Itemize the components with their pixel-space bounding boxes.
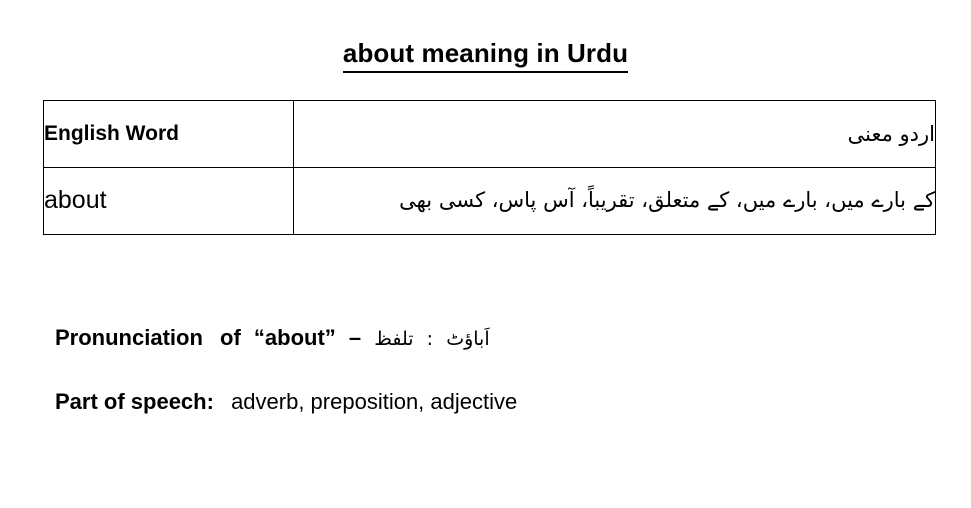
table-cell-english-word: about (44, 168, 294, 235)
pronunciation-line: Pronunciation of “about” – تلفظ : اَباؤٹ (55, 325, 935, 351)
pronunciation-label: Pronunciation (55, 325, 203, 350)
table-header-cell-english: English Word (44, 101, 294, 168)
header-label-english: English Word (44, 122, 293, 145)
table-row: about کے بارے میں، بارے میں، کے متعلق، ت… (44, 168, 936, 235)
table-header-cell-urdu: اردو معنی (294, 101, 936, 168)
part-of-speech-line: Part of speech: adverb, preposition, adj… (55, 389, 935, 415)
page-title: about meaning in Urdu (0, 38, 971, 73)
part-of-speech-value: adverb, preposition, adjective (231, 389, 517, 414)
urdu-meaning-value: کے بارے میں، بارے میں، کے متعلق، تقریباً… (294, 186, 935, 215)
page-title-text: about meaning in Urdu (343, 39, 628, 73)
meaning-table: English Word اردو معنی about کے بارے میں… (43, 100, 936, 235)
pronunciation-dash: – (349, 325, 361, 350)
english-word-value: about (44, 187, 293, 215)
part-of-speech-label: Part of speech: (55, 389, 214, 414)
pronunciation-urdu-label: تلفظ (374, 328, 413, 351)
pronunciation-urdu-value: اَباؤٹ (446, 328, 489, 351)
pronunciation-colon: : (427, 328, 433, 351)
pronunciation-word: “about” (254, 325, 336, 350)
header-label-urdu: اردو معنی (294, 120, 935, 148)
table-cell-urdu-meaning: کے بارے میں، بارے میں، کے متعلق، تقریباً… (294, 168, 936, 235)
table-header-row: English Word اردو معنی (44, 101, 936, 168)
pronunciation-of-text: of (220, 325, 241, 350)
details-block: Pronunciation of “about” – تلفظ : اَباؤٹ… (55, 325, 935, 416)
